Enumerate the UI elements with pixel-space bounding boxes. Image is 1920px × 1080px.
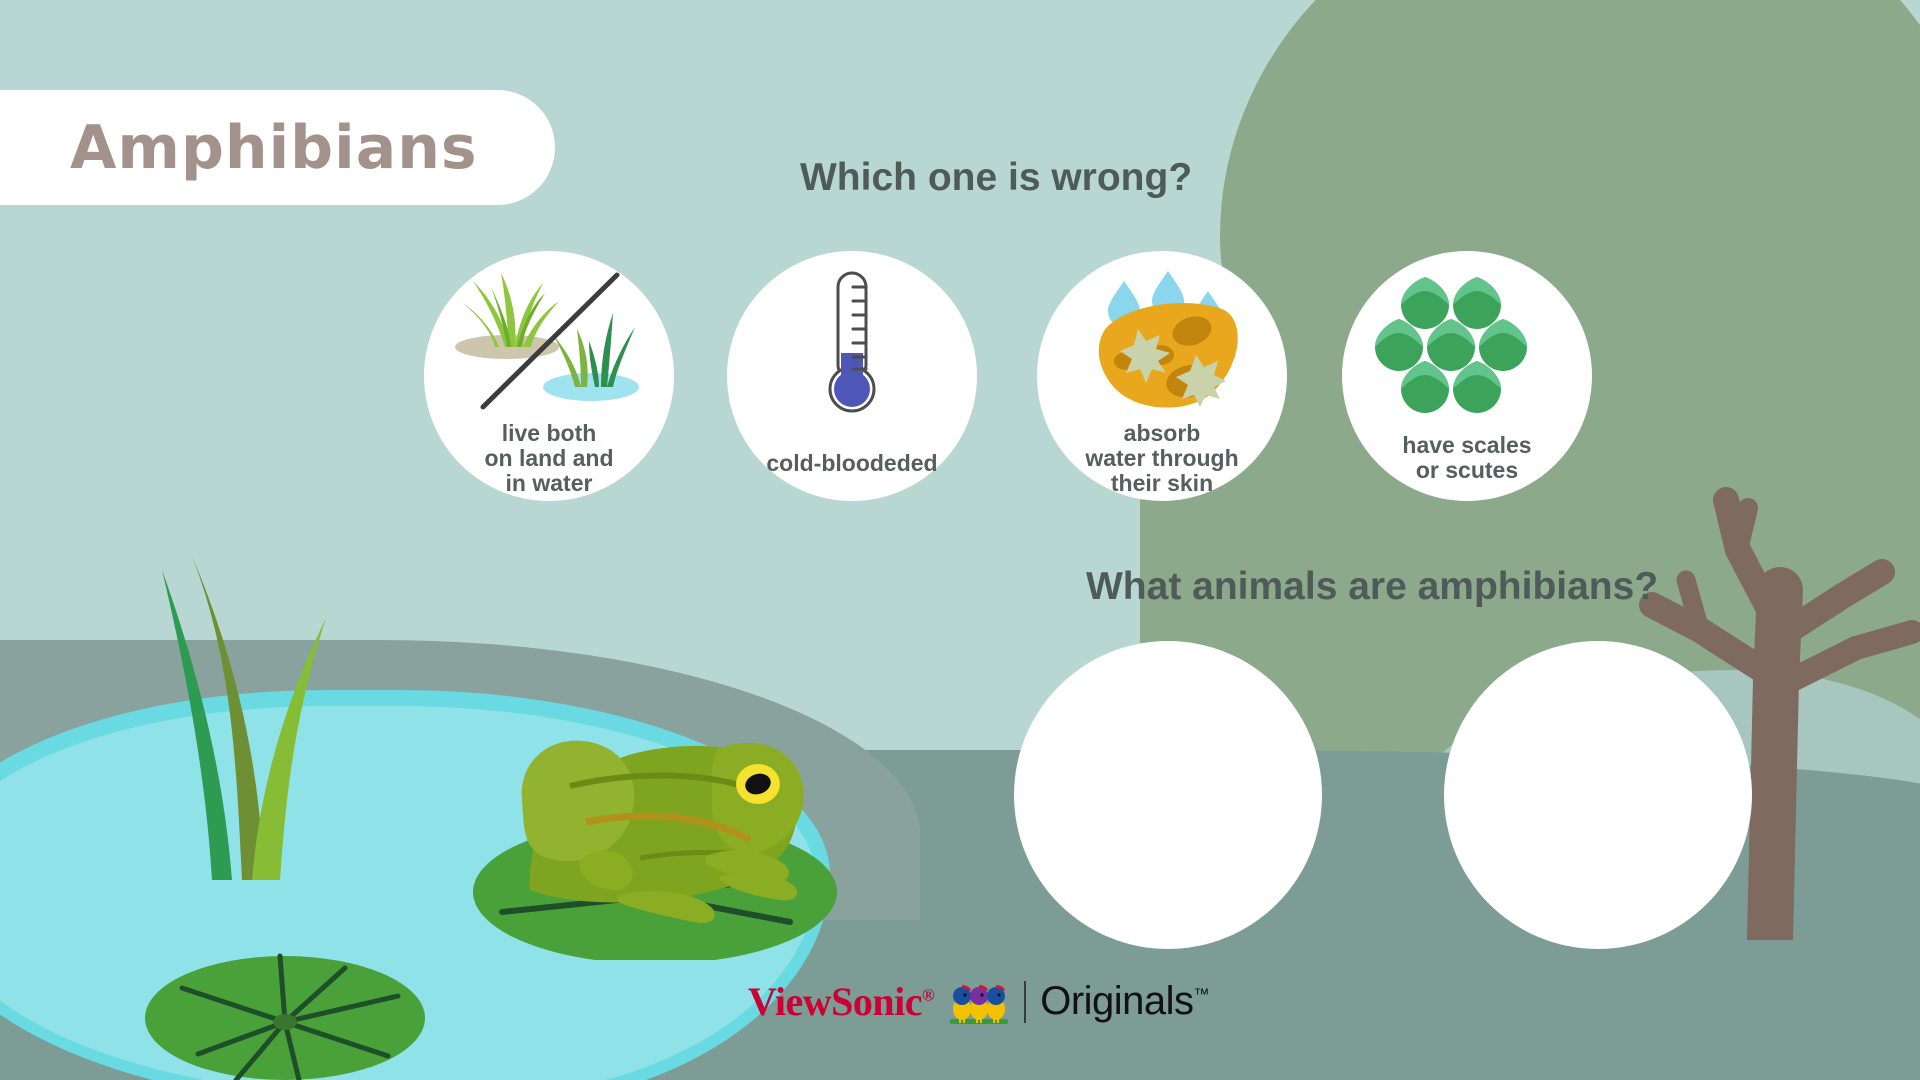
footer-logo: ViewSonic® bbox=[748, 978, 1209, 1025]
grass-land-and-water-icon bbox=[449, 269, 649, 419]
reeds-icon bbox=[140, 550, 350, 880]
registered-mark: ® bbox=[922, 986, 934, 1005]
option-cold-blooded[interactable]: cold-bloodeded bbox=[727, 251, 977, 501]
option-label: absorb water through their skin bbox=[1085, 421, 1238, 495]
lily-pad-icon bbox=[140, 950, 430, 1080]
scales-icon bbox=[1367, 269, 1567, 419]
viewsonic-wordmark: ViewSonic® bbox=[748, 978, 934, 1025]
sponge-water-drops-icon bbox=[1062, 269, 1262, 419]
option-live-both-land-water[interactable]: live both on land and in water bbox=[424, 251, 674, 501]
thermometer-icon bbox=[752, 269, 952, 419]
page-title: Amphibians bbox=[70, 113, 478, 183]
originals-wordmark: Originals™ bbox=[1040, 979, 1209, 1024]
option-have-scales-scutes[interactable]: have scales or scutes bbox=[1342, 251, 1592, 501]
logo-divider bbox=[1024, 981, 1026, 1023]
frog-illustration bbox=[390, 700, 910, 960]
viewsonic-birds-icon bbox=[948, 979, 1010, 1025]
slide-canvas: Amphibians Which one is wrong? bbox=[0, 0, 1920, 1080]
answer-slot-2[interactable] bbox=[1444, 641, 1752, 949]
option-label: cold-bloodeded bbox=[766, 451, 937, 476]
option-absorb-water-skin[interactable]: absorb water through their skin bbox=[1037, 251, 1287, 501]
question-two-heading: What animals are amphibians? bbox=[1086, 565, 1658, 609]
trademark-mark: ™ bbox=[1194, 987, 1210, 1004]
option-label: have scales or scutes bbox=[1402, 433, 1531, 483]
slide-title-pill: Amphibians bbox=[0, 90, 555, 205]
option-label: live both on land and in water bbox=[484, 421, 613, 495]
question-one-heading: Which one is wrong? bbox=[800, 156, 1192, 200]
answer-slot-1[interactable] bbox=[1014, 641, 1322, 949]
